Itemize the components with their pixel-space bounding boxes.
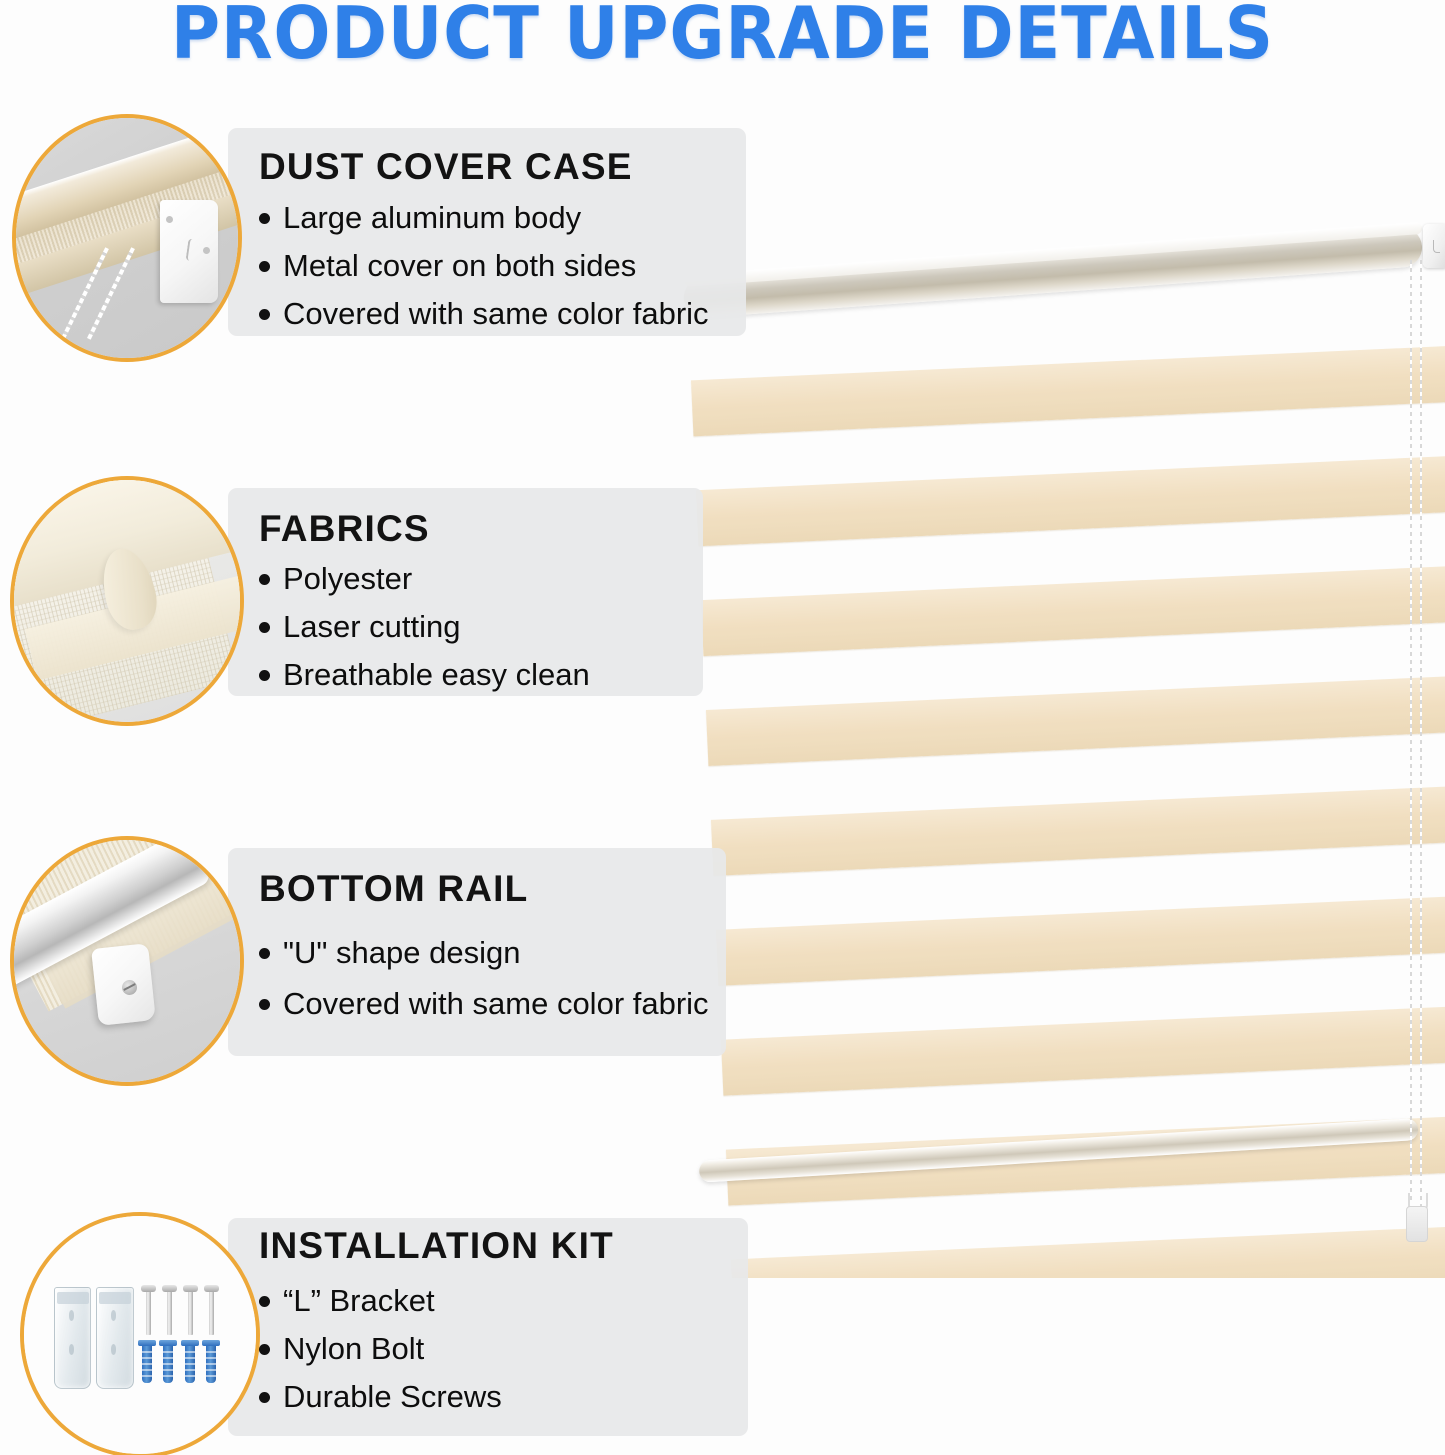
list-item: Nylon Bolt <box>259 1333 502 1364</box>
page-title: PRODUCT UPGRADE DETAILS <box>51 0 1395 72</box>
wall-anchor-icon <box>206 1343 216 1383</box>
list-item: Covered with same color fabric <box>259 988 709 1019</box>
bullet-dot-icon <box>259 948 270 959</box>
list-item: Laser cutting <box>259 611 590 642</box>
bullet-list: Polyester Laser cutting Breathable easy … <box>259 563 590 707</box>
section-heading: BOTTOM RAIL <box>259 868 528 910</box>
bead-chain-strand <box>1410 260 1412 1200</box>
list-item: Large aluminum body <box>259 202 709 233</box>
list-item: Polyester <box>259 563 590 594</box>
mounting-hardware-photo <box>24 1216 256 1454</box>
list-item-label: Nylon Bolt <box>283 1333 424 1364</box>
photo-oval-installation-kit <box>20 1212 260 1455</box>
list-item-label: Polyester <box>283 563 412 594</box>
list-item-label: Covered with same color fabric <box>283 988 709 1019</box>
list-item: “L” Bracket <box>259 1285 502 1316</box>
fabric-stripe <box>696 456 1445 546</box>
zebra-fabric-swatch-photo <box>14 480 240 722</box>
l-bracket-icon <box>96 1287 133 1389</box>
bullet-dot-icon <box>259 309 270 320</box>
list-item-label: “L” Bracket <box>283 1285 435 1316</box>
infographic-page: PRODUCT UPGRADE DETAILS <box>0 0 1445 1455</box>
fabric-stripe <box>721 1005 1445 1095</box>
list-item: "U" shape design <box>259 937 709 968</box>
list-item: Durable Screws <box>259 1381 502 1412</box>
list-item: Metal cover on both sides <box>259 250 709 281</box>
bullet-dot-icon <box>259 1344 270 1355</box>
bead-chain-strand <box>1420 260 1422 1220</box>
list-item: Covered with same color fabric <box>259 298 709 329</box>
bullet-list: "U" shape design Covered with same color… <box>259 937 709 1036</box>
list-item-label: Covered with same color fabric <box>283 298 709 329</box>
list-item-label: Large aluminum body <box>283 202 581 233</box>
bullet-dot-icon <box>259 999 270 1010</box>
bullet-dot-icon <box>259 1392 270 1403</box>
bullet-dot-icon <box>259 261 270 272</box>
wall-anchor-icon <box>142 1343 152 1383</box>
screw-icon <box>146 1289 151 1335</box>
fabric-stripe <box>731 1225 1445 1278</box>
bullet-list: “L” Bracket Nylon Bolt Durable Screws <box>259 1285 502 1429</box>
photo-oval-fabrics <box>10 476 244 726</box>
wall-anchor-icon <box>185 1343 195 1383</box>
headrail-cassette-photo <box>16 118 238 358</box>
list-item-label: "U" shape design <box>283 937 520 968</box>
bullet-list: Large aluminum body Metal cover on both … <box>259 202 709 346</box>
wall-anchor-icon <box>163 1343 173 1383</box>
shade-assembly <box>668 218 1445 1278</box>
list-item-label: Breathable easy clean <box>283 659 590 690</box>
bullet-dot-icon <box>259 574 270 585</box>
bottom-rail-endcap-photo <box>14 840 240 1082</box>
chain-tensioner-clip <box>1406 1206 1428 1242</box>
section-heading: FABRICS <box>259 508 430 550</box>
headrail-endcap <box>1423 224 1445 268</box>
screw-icon <box>209 1289 214 1335</box>
section-heading: INSTALLATION KIT <box>259 1225 614 1267</box>
fabric-stripe <box>691 346 1445 436</box>
screw-icon <box>167 1289 172 1335</box>
list-item-label: Durable Screws <box>283 1381 502 1412</box>
bullet-dot-icon <box>259 1296 270 1307</box>
l-bracket-icon <box>54 1287 91 1389</box>
product-photo-zebra-roller-shade <box>668 218 1445 1278</box>
photo-oval-bottom-rail <box>10 836 244 1086</box>
fabric-stripe <box>711 785 1445 875</box>
fabric-stripe <box>701 566 1445 656</box>
bullet-dot-icon <box>259 622 270 633</box>
section-heading: DUST COVER CASE <box>259 146 633 188</box>
list-item-label: Laser cutting <box>283 611 461 642</box>
screw-icon <box>188 1289 193 1335</box>
list-item: Breathable easy clean <box>259 659 590 690</box>
fabric-stripe <box>706 676 1445 766</box>
list-item-label: Metal cover on both sides <box>283 250 636 281</box>
bullet-dot-icon <box>259 670 270 681</box>
fabric-stripe <box>716 895 1445 985</box>
bullet-dot-icon <box>259 213 270 224</box>
photo-oval-dust-cover-case <box>12 114 242 362</box>
